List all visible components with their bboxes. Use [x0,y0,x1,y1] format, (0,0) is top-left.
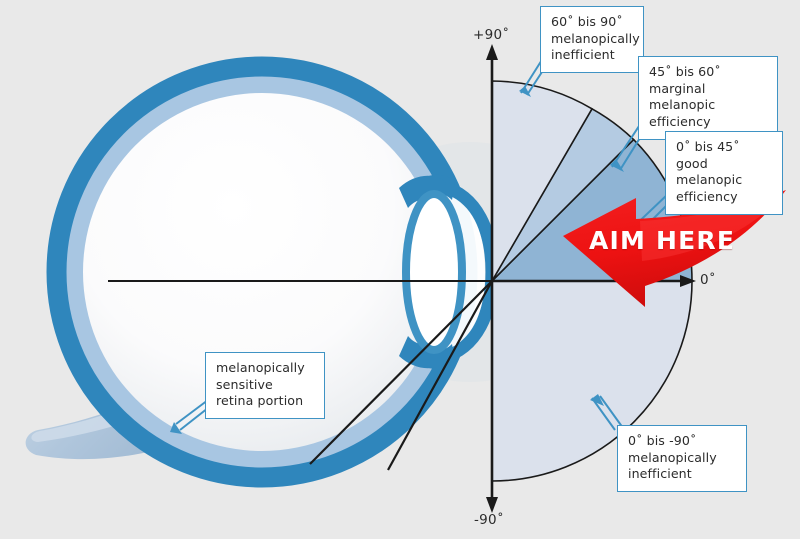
axis-label-zero: 0˚ [700,272,716,288]
aim-here-label: AIM HERE [589,226,735,255]
axis-arrow-up [486,44,498,60]
lens [406,194,462,350]
eye-melanopic-diagram: +90˚ -90˚ 0˚ 60˚ bis 90˚ melanopically i… [0,0,800,539]
axis-label-plus90: +90˚ [473,27,509,43]
axis-label-minus90: -90˚ [474,512,504,528]
callout-45-60: 45˚ bis 60˚ marginal melanopic efficienc… [638,56,778,140]
callout-0-45: 0˚ bis 45˚ good melanopic efficiency [665,131,783,215]
callout-lower-0-minus90: 0˚ bis -90˚ melanopically inefficient [617,425,747,492]
axis-arrow-down [486,497,498,513]
callout-60-90: 60˚ bis 90˚ melanopically inefficient [540,6,644,73]
callout-retina: melanopically sensitive retina portion [205,352,325,419]
